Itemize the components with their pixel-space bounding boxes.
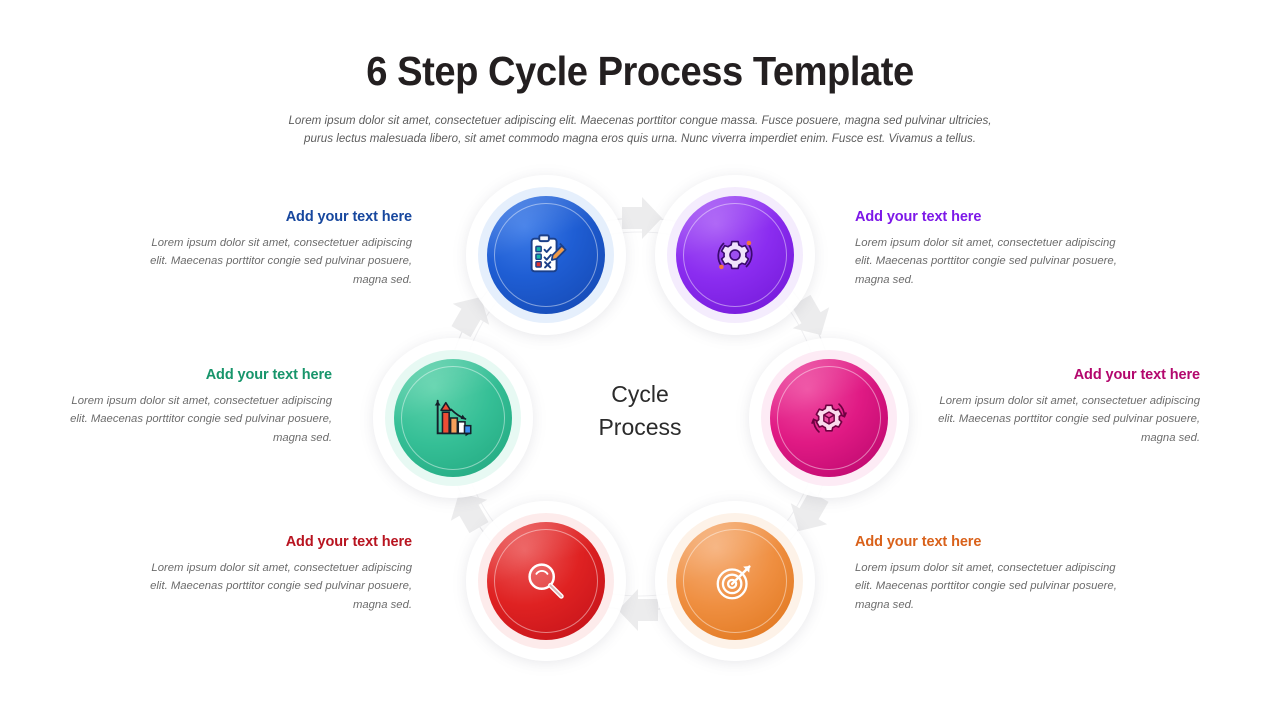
step-node-6[interactable] [394, 359, 512, 477]
step-heading-4: Add your text here [855, 534, 1117, 550]
step-text-4: Add your text here Lorem ipsum dolor sit… [855, 534, 1117, 614]
center-label-line-2: Process [540, 411, 740, 444]
step-text-1: Add your text here Lorem ipsum dolor sit… [150, 209, 412, 289]
clipboard-checklist-icon [523, 232, 569, 278]
step-body-3: Lorem ipsum dolor sit amet, consectetuer… [938, 392, 1200, 447]
step-text-2: Add your text here Lorem ipsum dolor sit… [855, 209, 1117, 289]
step-heading-3: Add your text here [938, 367, 1200, 383]
step-text-5: Add your text here Lorem ipsum dolor sit… [150, 534, 412, 614]
center-label: Cycle Process [540, 378, 740, 444]
step-node-5[interactable] [487, 522, 605, 640]
gear-orbit-icon [712, 232, 758, 278]
step-body-4: Lorem ipsum dolor sit amet, consectetuer… [855, 559, 1117, 614]
step-heading-6: Add your text here [70, 367, 332, 383]
step-body-2: Lorem ipsum dolor sit amet, consectetuer… [855, 234, 1117, 289]
step-body-1: Lorem ipsum dolor sit amet, consectetuer… [150, 234, 412, 289]
step-node-4[interactable] [676, 522, 794, 640]
gear-cube-refresh-icon [806, 395, 852, 441]
slide-root: 6 Step Cycle Process Template Lorem ipsu… [0, 0, 1280, 720]
step-text-6: Add your text here Lorem ipsum dolor sit… [70, 367, 332, 447]
target-arrow-icon [712, 558, 758, 604]
step-node-1[interactable] [487, 196, 605, 314]
step-heading-1: Add your text here [150, 209, 412, 225]
step-body-6: Lorem ipsum dolor sit amet, consectetuer… [70, 392, 332, 447]
bar-chart-decline-icon [430, 395, 476, 441]
step-body-5: Lorem ipsum dolor sit amet, consectetuer… [150, 559, 412, 614]
step-text-3: Add your text here Lorem ipsum dolor sit… [938, 367, 1200, 447]
magnifier-search-icon [523, 558, 569, 604]
step-heading-2: Add your text here [855, 209, 1117, 225]
step-node-3[interactable] [770, 359, 888, 477]
center-label-line-1: Cycle [540, 378, 740, 411]
step-node-2[interactable] [676, 196, 794, 314]
step-heading-5: Add your text here [150, 534, 412, 550]
